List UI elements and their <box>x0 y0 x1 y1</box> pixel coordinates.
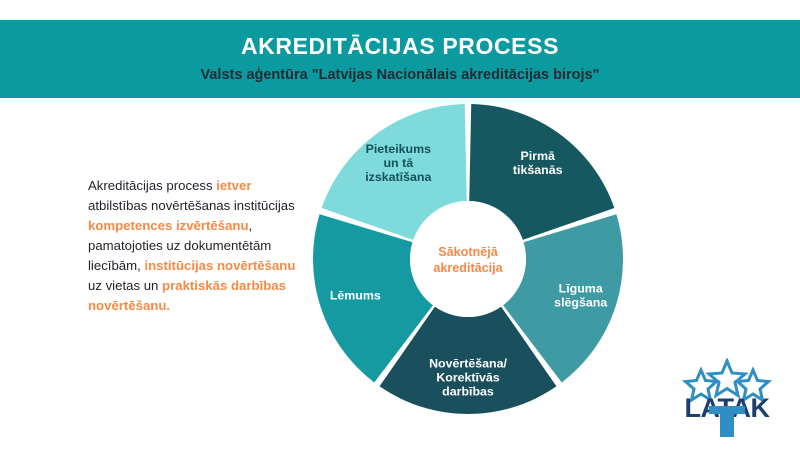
description-highlight: institūcijas novērtēšanu <box>144 258 295 273</box>
page-subtitle: Valsts aģentūra "Latvijas Nacionālais ak… <box>201 68 600 84</box>
center-label-line: Sākotnējā <box>438 245 498 259</box>
center-label-line: akreditācija <box>433 261 503 275</box>
description-highlight: kompetences izvērtēšanu <box>88 218 249 233</box>
logo-wordmark: LATAK <box>685 393 771 437</box>
page-title: AKREDITĀCIJAS PROCESS <box>241 34 559 59</box>
logo-pillar-top-icon <box>709 406 745 414</box>
header-band: AKREDITĀCIJAS PROCESS Valsts aģentūra "L… <box>0 20 800 98</box>
donut-center-hole <box>410 201 526 317</box>
description-highlight: ietver <box>216 178 251 193</box>
description-text: Akreditācijas process <box>88 178 216 193</box>
accreditation-cycle-diagram: Pieteikumsun tāizskatīšanaPirmātikšanāsL… <box>313 104 623 414</box>
description-paragraph: Akreditācijas process ietver atbilstības… <box>88 176 300 316</box>
description-text: atbilstības novērtēšanas institūcijas <box>88 198 295 213</box>
description-text: uz vietas un <box>88 278 162 293</box>
latak-logo: LATAK <box>668 358 786 438</box>
